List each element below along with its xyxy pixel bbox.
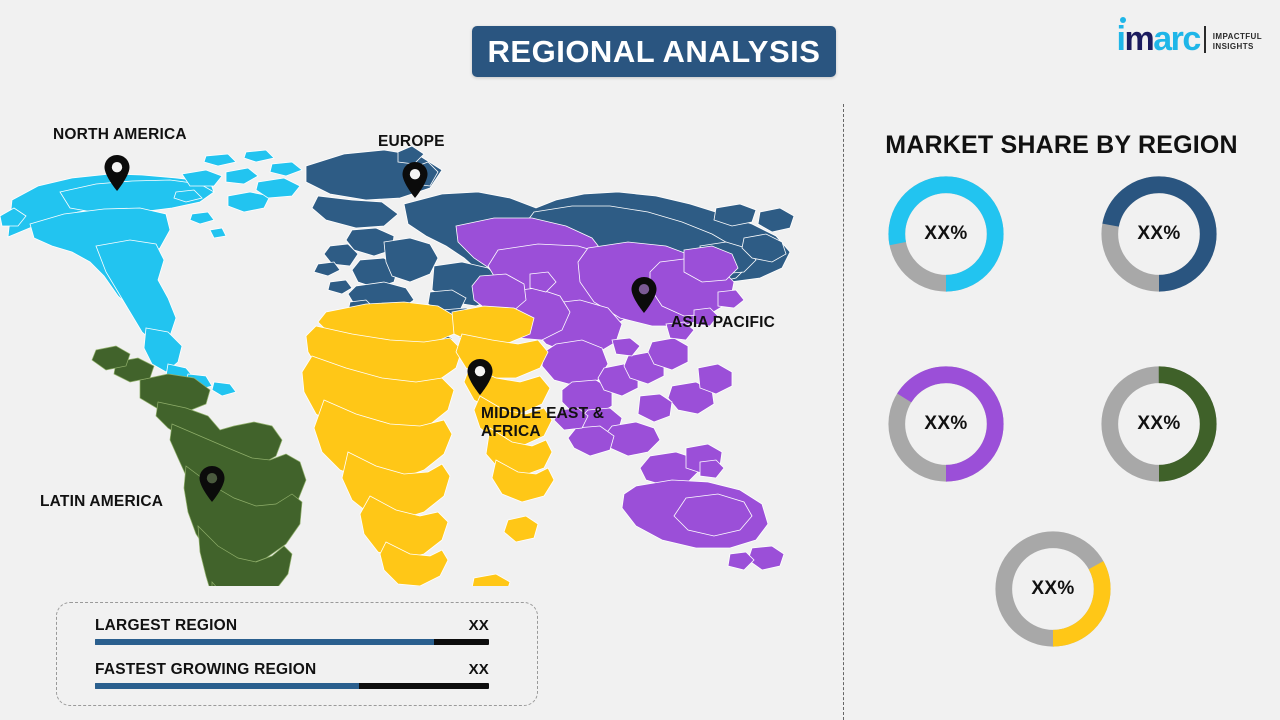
map-region-north-america — [0, 150, 302, 396]
map-pin-middle-east-africa[interactable] — [466, 358, 494, 396]
donut-value-label: XX% — [881, 359, 1011, 489]
infographic-root: REGIONAL ANALYSIS imarc IMPACTFUL INSIGH… — [0, 0, 1280, 720]
map-label-asia-pacific: ASIA PACIFIC — [671, 314, 775, 332]
legend-value: XX — [469, 617, 489, 634]
logo-tagline-line1: IMPACTFUL — [1213, 32, 1262, 42]
logo-letters-arc: arc — [1153, 20, 1200, 58]
charts-panel-title: MARKET SHARE BY REGION — [843, 131, 1280, 160]
map-label-latin-america: LATIN AMERICA — [40, 493, 163, 511]
map-pin-europe[interactable] — [401, 161, 429, 199]
donut-chart-north-america: XX% — [881, 169, 1011, 299]
donut-chart-middle-east-africa: XX% — [988, 524, 1118, 654]
donut-value-label: XX% — [881, 169, 1011, 299]
donut-chart-asia-pacific: XX% — [881, 359, 1011, 489]
map-pin-north-america[interactable] — [103, 154, 131, 192]
logo-divider — [1204, 26, 1206, 53]
legend-row-fastest-growing-region: FASTEST GROWING REGION XX — [95, 661, 489, 689]
logo-tagline-line2: INSIGHTS — [1213, 42, 1262, 52]
logo-letter-m: m — [1124, 20, 1153, 58]
donut-chart-latin-america: XX% — [1094, 359, 1224, 489]
world-map-panel: NORTH AMERICA EUROPE ASIA PACIFIC MIDDLE… — [0, 96, 830, 586]
map-label-europe: EUROPE — [378, 133, 445, 151]
legend-progress-fill — [95, 639, 434, 645]
map-pin-latin-america[interactable] — [198, 465, 226, 503]
legend-box: LARGEST REGION XX FASTEST GROWING REGION… — [56, 602, 538, 706]
donut-chart-europe: XX% — [1094, 169, 1224, 299]
map-label-north-america: NORTH AMERICA — [53, 126, 187, 144]
legend-label: LARGEST REGION — [95, 617, 237, 635]
legend-label: FASTEST GROWING REGION — [95, 661, 316, 679]
map-pin-asia-pacific[interactable] — [630, 276, 658, 314]
logo-tagline: IMPACTFUL INSIGHTS — [1213, 32, 1262, 52]
donut-value-label: XX% — [1094, 169, 1224, 299]
legend-head: LARGEST REGION XX — [95, 617, 489, 635]
map-region-middle-east-africa — [302, 302, 554, 586]
legend-progress-fill — [95, 683, 359, 689]
legend-value: XX — [469, 661, 489, 678]
legend-head: FASTEST GROWING REGION XX — [95, 661, 489, 679]
donut-value-label: XX% — [988, 524, 1118, 654]
logo-wordmark: imarc — [1117, 22, 1200, 56]
page-title-banner: REGIONAL ANALYSIS — [472, 26, 836, 77]
logo-dot-icon — [1120, 17, 1126, 23]
donut-value-label: XX% — [1094, 359, 1224, 489]
page-title: REGIONAL ANALYSIS — [488, 34, 821, 70]
legend-row-largest-region: LARGEST REGION XX — [95, 617, 489, 645]
imarc-logo: imarc IMPACTFUL INSIGHTS — [1117, 22, 1262, 56]
legend-progress-track — [95, 683, 489, 689]
legend-progress-track — [95, 639, 489, 645]
map-label-middle-east-africa: MIDDLE EAST & AFRICA — [481, 405, 604, 442]
panel-divider — [843, 104, 844, 720]
